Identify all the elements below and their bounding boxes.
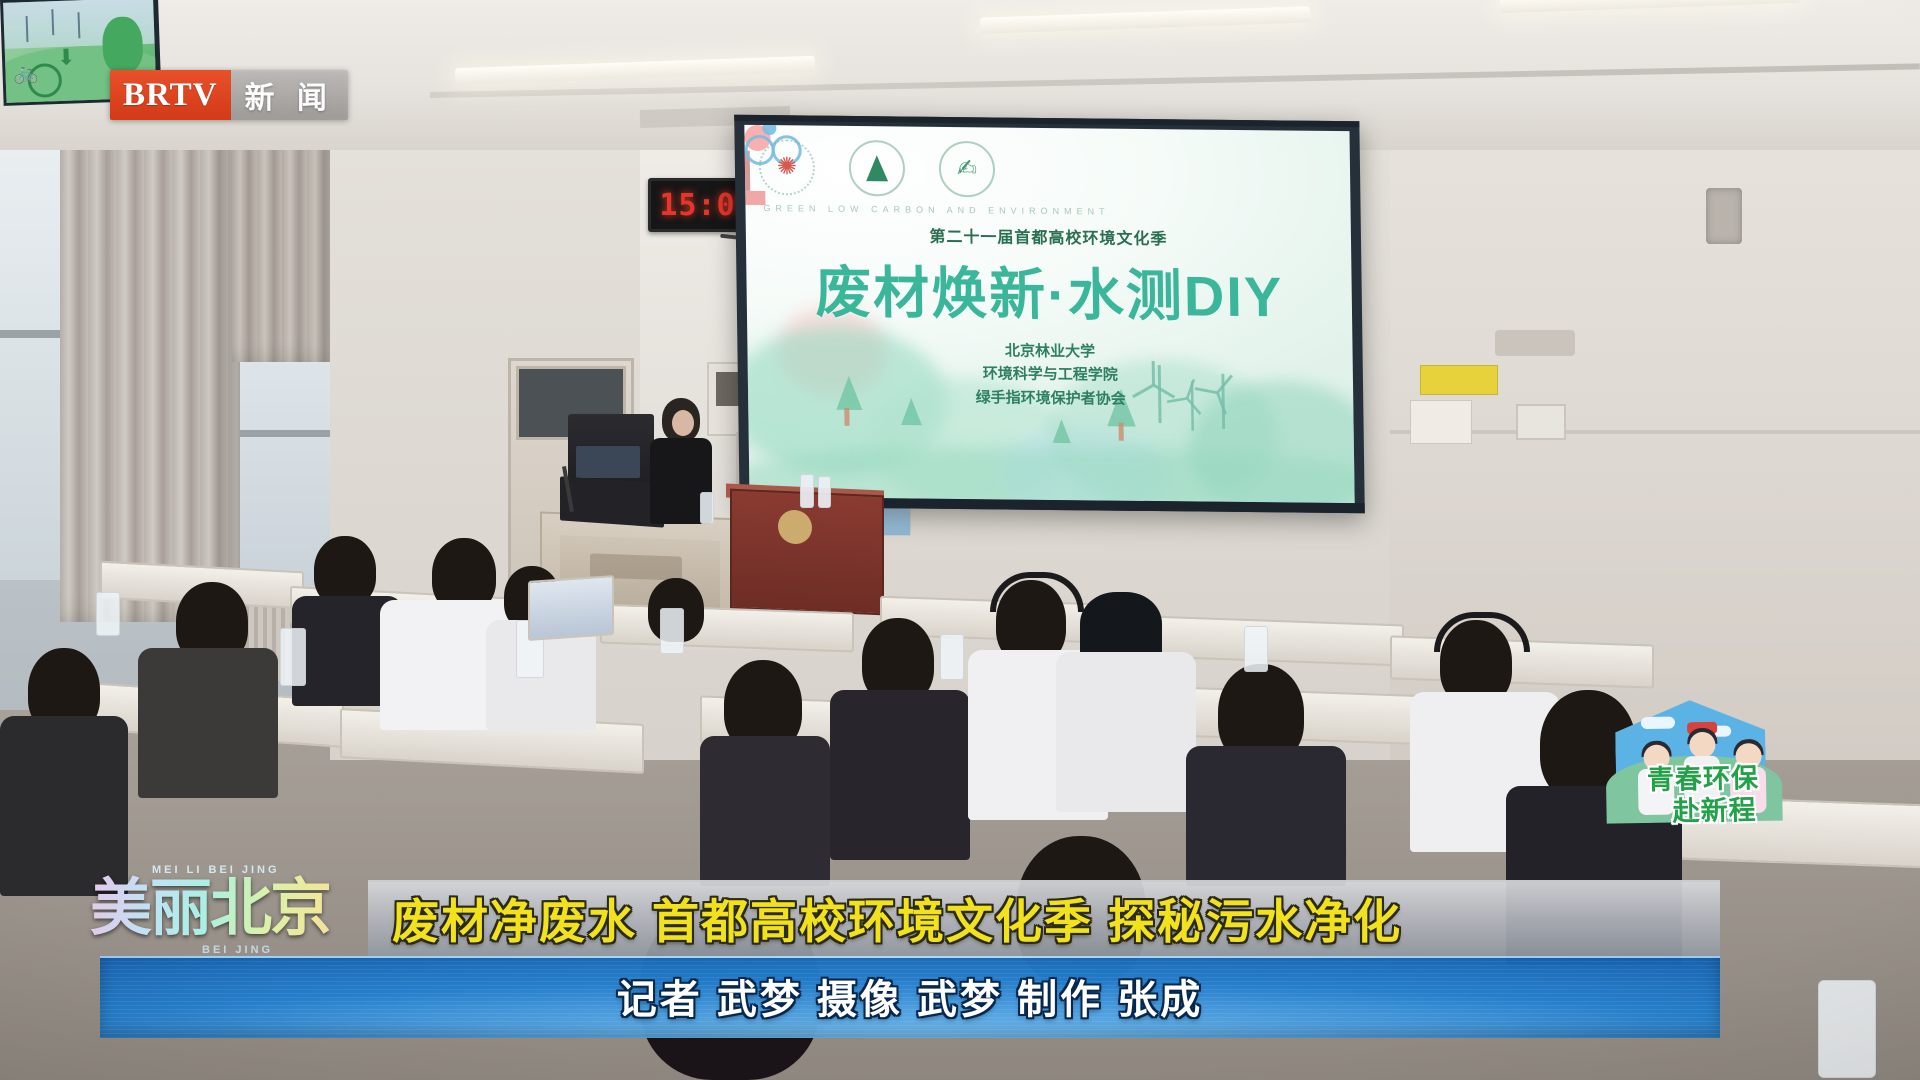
student-body: [830, 690, 970, 860]
lab-flask: [940, 634, 964, 680]
mural-cloud-icon: [1641, 716, 1675, 729]
slide-english-strip: GREEN LOW CARBON AND ENVIRONMENT: [763, 203, 1323, 219]
water-bottle: [700, 492, 714, 524]
student-body: [1186, 746, 1346, 886]
mural-slogan: 青春环保 赴新程: [1598, 762, 1809, 829]
program-category-label: 新 闻: [245, 73, 334, 117]
lab-beaker: [1818, 980, 1876, 1078]
brtv-network-label: BRTV: [123, 77, 218, 114]
pine-tree-emblem: [849, 140, 906, 197]
slide-tree-trunk: [844, 408, 849, 426]
lab-flask: [280, 628, 306, 686]
projection-screen: ✺ ✍ GREEN LOW CARBON AND ENVIRONMENT 第二十…: [734, 115, 1365, 514]
projector-mount: [1495, 330, 1575, 356]
window-mullion-right: [228, 430, 336, 437]
program-logo-text: 美丽北京: [90, 870, 370, 948]
lab-flask: [660, 608, 684, 654]
lab-flask: [96, 592, 120, 636]
program-logo-pinyin-bottom: BEI JING: [202, 944, 273, 956]
broadcast-frame: 15:09: [0, 0, 1920, 1080]
slide-emblem-row: ✺ ✍: [759, 139, 996, 197]
poster-bicycle-icon: 🚲: [13, 60, 39, 86]
slide-tree-icon: [1052, 419, 1071, 443]
wall-sign-white: [1410, 400, 1472, 444]
wall-sign-yellow: [1420, 365, 1498, 395]
lectern-computer-screen: [576, 446, 640, 478]
student-body: [1056, 652, 1196, 812]
slide-organizations: 北京林业大学 环境科学与工程学院 绿手指环境保护者协会: [747, 337, 1353, 413]
lectern-monitor: [560, 476, 664, 527]
projected-slide: ✺ ✍ GREEN LOW CARBON AND ENVIRONMENT 第二十…: [744, 125, 1354, 503]
presenter-face: [672, 410, 694, 436]
podium-emblem-icon: [778, 509, 812, 544]
student-body: [700, 736, 830, 886]
poster-tree-icon: [102, 16, 144, 73]
bird-emblem: ✺: [759, 139, 816, 196]
slide-kicker-text: 第二十一届首都高校环境文化季: [746, 221, 1351, 251]
program-logo: MEI LI BEI JING 美丽北京 BEI JING: [90, 864, 370, 974]
water-bottle: [818, 476, 831, 508]
laptop-screen: [528, 575, 614, 641]
lab-flask: [1244, 626, 1268, 672]
program-category-box: 新 闻: [231, 70, 348, 120]
channel-bug: BRTV 新 闻: [110, 70, 348, 120]
slide-tree-trunk: [1119, 423, 1124, 441]
wall-outlet: [1516, 404, 1566, 440]
water-bottle: [800, 474, 814, 508]
wall-mural: 青春环保 赴新程: [1597, 698, 1810, 862]
wall-speaker: [1706, 188, 1742, 244]
student-body: [138, 648, 278, 798]
brtv-network-logo: BRTV: [110, 70, 231, 120]
leaf-hand-emblem: ✍: [939, 141, 996, 198]
headline-text: 废材净废水 首都高校环境文化季 探秘污水净化: [392, 884, 1722, 950]
mural-slogan-line-2: 赴新程: [1620, 794, 1809, 829]
slide-main-title: 废材焕新·水测DIY: [746, 247, 1352, 334]
poster-arrow-icon: ⬇: [57, 44, 76, 71]
lower-third: 废材净废水 首都高校环境文化季 探秘污水净化 记者 武梦 摄像 武梦 制作 张成…: [100, 880, 1720, 1040]
mural-slogan-line-1: 青春环保: [1598, 762, 1809, 798]
